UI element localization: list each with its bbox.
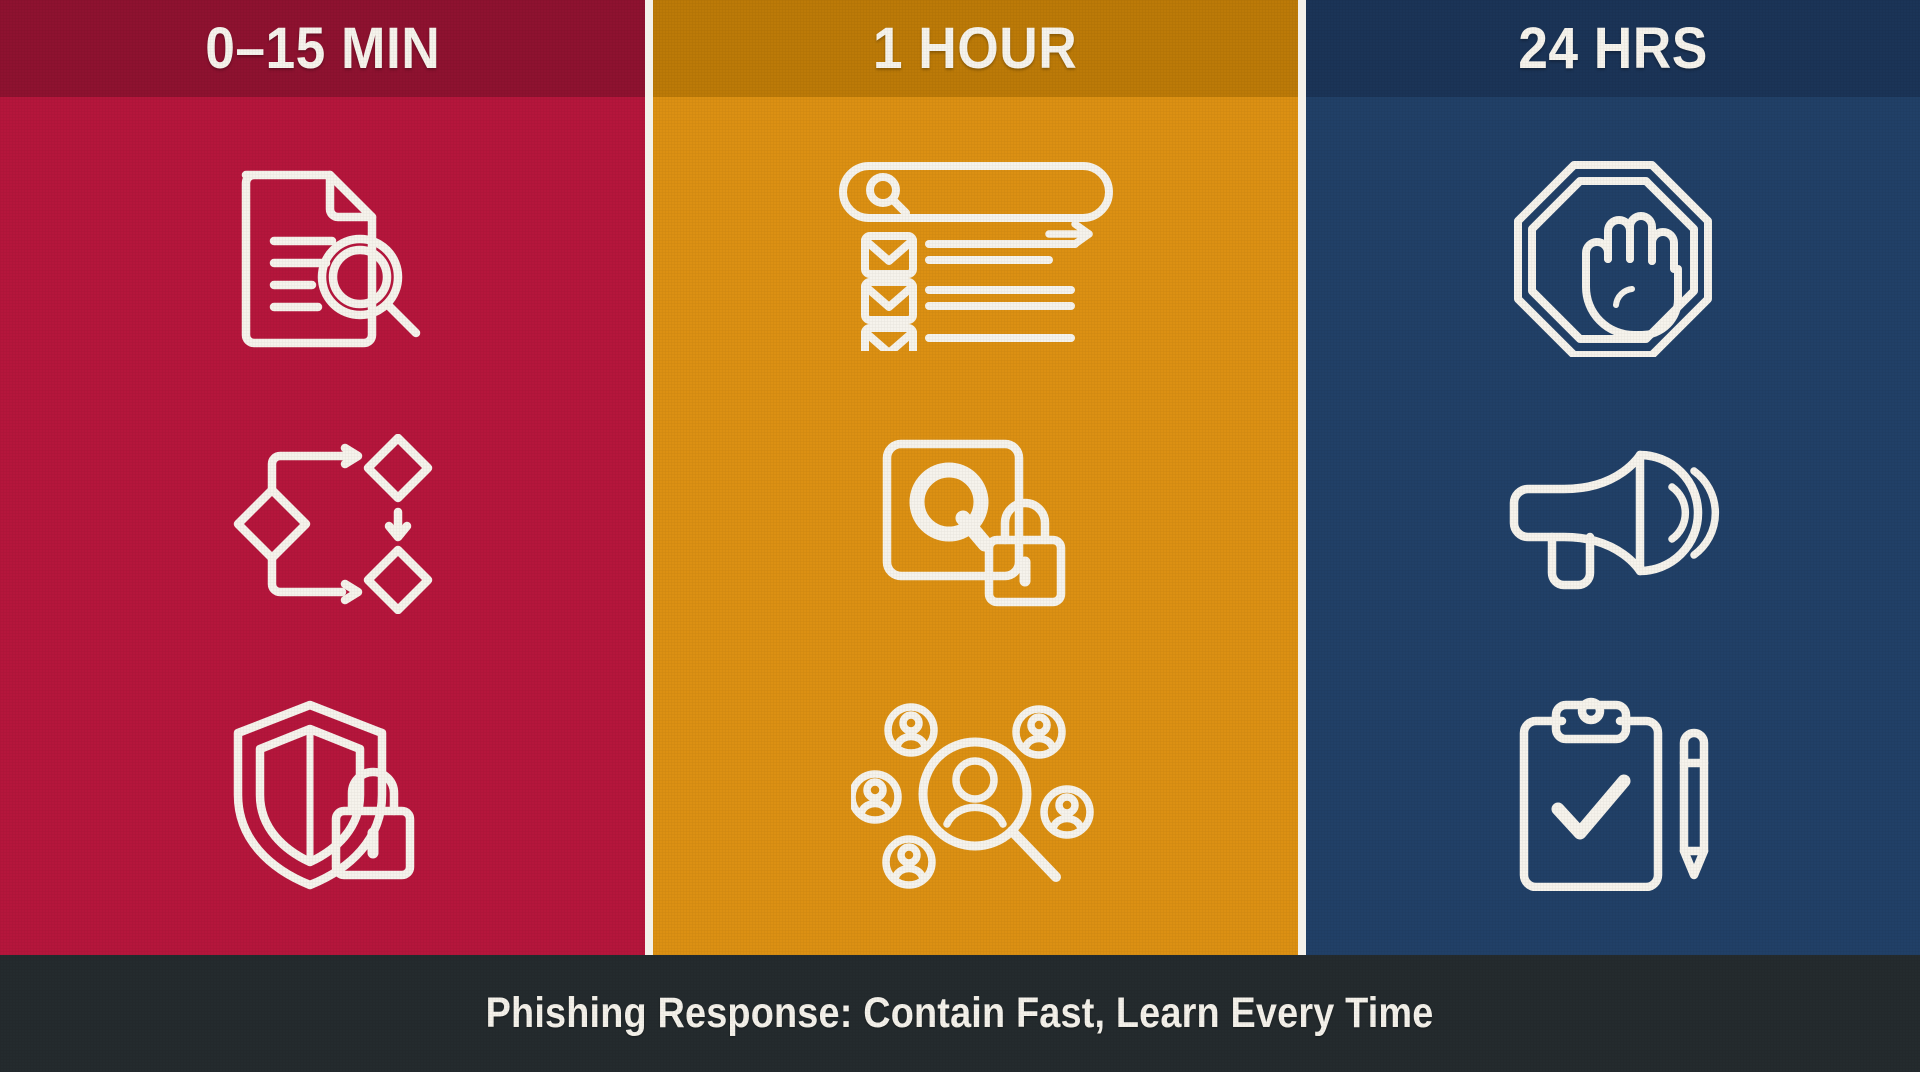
column-header-label: 0–15 MIN bbox=[205, 20, 440, 78]
user-network-search-icon bbox=[851, 702, 1101, 892]
icon-stack-column-3 bbox=[1306, 97, 1920, 955]
column-header-label: 24 HRS bbox=[1518, 20, 1708, 78]
icon-cell-email-search-list bbox=[653, 156, 1298, 351]
timeline-columns: 0–15 MIN bbox=[0, 0, 1920, 955]
timeline-column-0-15-min: 0–15 MIN bbox=[0, 0, 645, 955]
megaphone-icon bbox=[1496, 441, 1731, 606]
phishing-response-infographic: 0–15 MIN bbox=[0, 0, 1920, 1072]
icon-stack-column-1 bbox=[0, 97, 645, 955]
flowchart-process-icon bbox=[208, 434, 438, 614]
icon-cell-quarantine-lock bbox=[653, 434, 1298, 619]
shield-lock-icon bbox=[208, 693, 438, 893]
stop-hand-icon bbox=[1508, 157, 1718, 357]
icon-cell-stop-hand bbox=[1306, 157, 1920, 357]
column-header-label: 1 HOUR bbox=[873, 20, 1077, 78]
timeline-column-1-hour: 1 HOUR bbox=[653, 0, 1298, 955]
icon-cell-megaphone bbox=[1306, 441, 1920, 606]
clipboard-check-pen-icon bbox=[1506, 691, 1721, 891]
column-header-24-hrs: 24 HRS bbox=[1306, 0, 1920, 97]
icon-cell-document-magnifier bbox=[0, 155, 645, 355]
column-header-1-hour: 1 HOUR bbox=[653, 0, 1298, 97]
caption-bar: Phishing Response: Contain Fast, Learn E… bbox=[0, 955, 1920, 1072]
icon-cell-clipboard-check-pen bbox=[1306, 691, 1920, 891]
caption-text: Phishing Response: Contain Fast, Learn E… bbox=[486, 989, 1434, 1038]
icon-stack-column-2 bbox=[653, 97, 1298, 955]
timeline-column-24-hrs: 24 HRS bbox=[1306, 0, 1920, 955]
icon-cell-flowchart bbox=[0, 434, 645, 614]
email-search-list-icon bbox=[831, 156, 1121, 351]
quarantine-lock-icon bbox=[871, 434, 1081, 619]
column-header-0-15-min: 0–15 MIN bbox=[0, 0, 645, 97]
icon-cell-user-network-search bbox=[653, 702, 1298, 892]
document-magnifier-icon bbox=[208, 155, 438, 355]
icon-cell-shield-lock bbox=[0, 693, 645, 893]
